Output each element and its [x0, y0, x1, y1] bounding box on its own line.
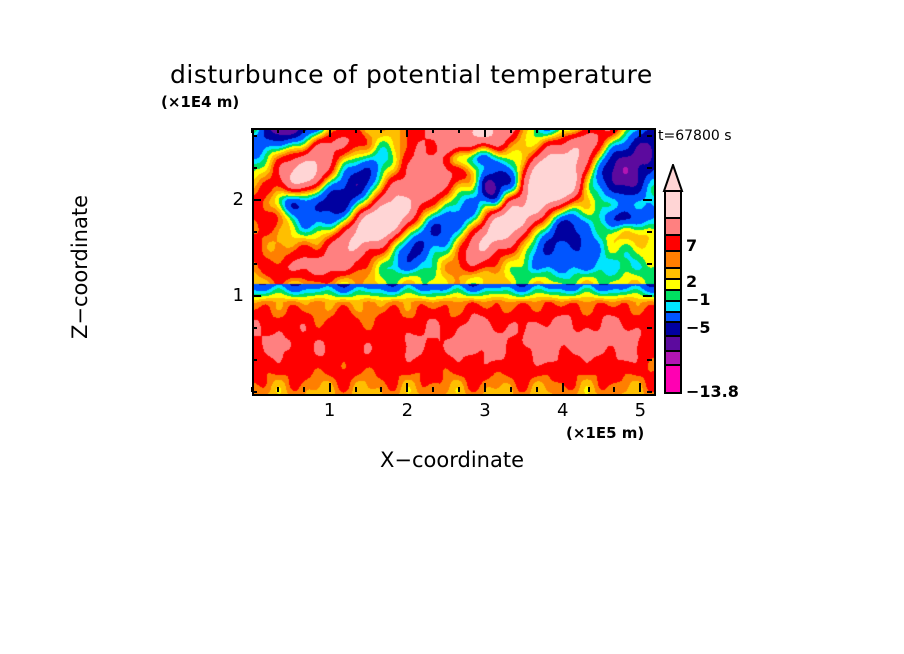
x-tick-top	[277, 128, 279, 133]
x-tick-top	[432, 128, 434, 133]
x-tick	[355, 387, 357, 392]
page-title: disturbunce of potential temperature	[170, 60, 770, 89]
y-tick	[252, 263, 257, 265]
x-tick	[562, 383, 564, 392]
y-tick-right	[647, 263, 652, 265]
colorbar-band	[664, 364, 682, 394]
colorbar-label: −13.8	[686, 382, 739, 401]
x-tick-top	[329, 128, 331, 137]
y-tick-right	[647, 359, 652, 361]
x-tick-top	[251, 128, 253, 133]
colorbar-label: 2	[686, 272, 697, 291]
x-tick-top	[458, 128, 460, 133]
x-tick	[536, 387, 538, 392]
colorbar-band	[664, 350, 682, 364]
x-tick	[432, 387, 434, 392]
y-tick	[252, 359, 257, 361]
y-tick-right	[647, 231, 652, 233]
y-tick-right	[647, 391, 652, 393]
y-axis-title: Z−coordinate	[68, 137, 92, 397]
x-tick-label: 4	[543, 400, 583, 421]
x-tick-label: 2	[387, 400, 427, 421]
x-tick	[303, 387, 305, 392]
colorbar-band	[664, 289, 682, 300]
colorbar-band	[664, 267, 682, 278]
x-axis-unit-label: (×1E5 m)	[566, 424, 644, 442]
x-tick	[329, 383, 331, 392]
x-tick-label: 1	[310, 400, 350, 421]
y-tick	[252, 295, 261, 297]
x-tick-top	[510, 128, 512, 133]
colorbar-band	[664, 234, 682, 251]
x-tick	[484, 383, 486, 392]
x-tick-label: 3	[465, 400, 505, 421]
y-tick-label: 2	[214, 189, 244, 210]
x-tick-top	[562, 128, 564, 137]
colorbar-band	[664, 217, 682, 234]
x-tick	[277, 387, 279, 392]
colorbar-band	[664, 321, 682, 335]
y-tick	[252, 327, 257, 329]
x-tick	[510, 387, 512, 392]
y-tick-right	[647, 135, 652, 137]
colorbar-label: 7	[686, 236, 697, 255]
y-tick	[252, 199, 261, 201]
x-tick-top	[355, 128, 357, 133]
x-tick	[380, 387, 382, 392]
colorbar-band	[664, 250, 682, 267]
y-tick	[252, 135, 257, 137]
y-tick-right	[643, 199, 652, 201]
x-tick-top	[536, 128, 538, 133]
y-tick	[252, 391, 257, 393]
colorbar-label: −1	[686, 290, 711, 309]
x-axis-title: X−coordinate	[252, 448, 652, 472]
x-tick-top	[484, 128, 486, 137]
colorbar-arrow-icon	[661, 164, 685, 192]
x-tick	[639, 383, 641, 392]
x-tick-top	[380, 128, 382, 133]
colorbar-label: −5	[686, 318, 711, 337]
colorbar-band	[664, 300, 682, 311]
y-tick-right	[643, 295, 652, 297]
y-tick-right	[647, 327, 652, 329]
y-tick-label: 1	[214, 285, 244, 306]
contour-plot-area	[252, 128, 656, 396]
x-tick-label: 5	[620, 400, 660, 421]
y-axis-unit-label: (×1E4 m)	[161, 93, 239, 111]
x-tick	[613, 387, 615, 392]
x-tick	[588, 387, 590, 392]
colorbar	[664, 190, 682, 394]
x-tick-top	[639, 128, 641, 137]
colorbar-band	[664, 278, 682, 289]
colorbar-band	[664, 190, 682, 217]
y-tick	[252, 167, 257, 169]
x-tick-top	[303, 128, 305, 133]
contour-canvas	[254, 130, 654, 394]
y-tick-right	[647, 167, 652, 169]
x-tick-top	[613, 128, 615, 133]
y-tick	[252, 231, 257, 233]
colorbar-band	[664, 335, 682, 349]
time-label: t=67800 s	[658, 128, 732, 144]
x-tick-top	[406, 128, 408, 137]
colorbar-band	[664, 311, 682, 321]
x-tick	[458, 387, 460, 392]
figure-root: disturbunce of potential temperature (×1…	[0, 0, 904, 654]
x-tick	[406, 383, 408, 392]
x-tick-top	[588, 128, 590, 133]
